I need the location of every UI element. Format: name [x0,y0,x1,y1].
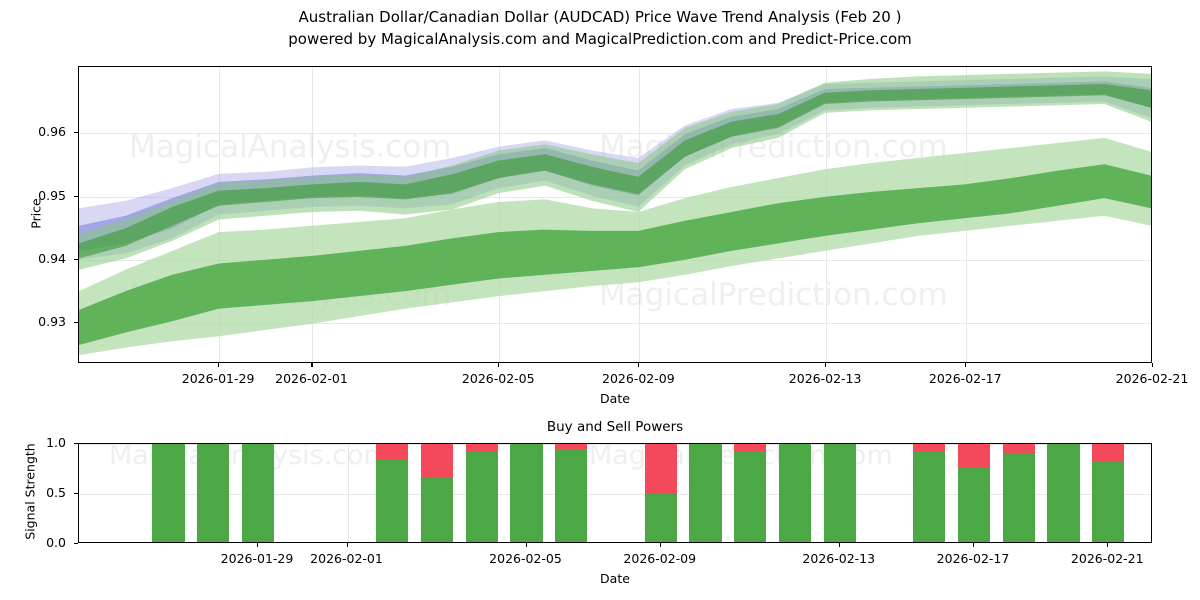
figure-title: Australian Dollar/Canadian Dollar (AUDCA… [0,6,1200,50]
signal-xtick-2026-02-05: 2026-02-05 [466,551,586,566]
sell-power-bar [376,444,408,459]
price-xtick-mark-1 [311,363,312,367]
price-xtick-mark-5 [965,363,966,367]
buy-power-bar [958,467,990,543]
signal-gridline-v-1 [348,444,349,542]
signal-y-axis-title: Signal Strength [23,427,38,557]
price-xtick-mark-4 [825,363,826,367]
sell-power-bar [734,444,766,452]
buy-power-bar [913,451,945,543]
signal-xtick-2026-02-21: 2026-02-21 [1047,551,1167,566]
sell-power-bar [913,444,945,451]
price-ytick-0.96: 0.96 [24,124,66,139]
buy-power-bar [1092,461,1124,543]
price-xtick-mark-3 [638,363,639,367]
signal-xtick-mark-3 [660,543,661,547]
buy-power-bar [555,449,587,543]
buy-power-bar [152,444,184,543]
buy-power-bar [779,444,811,543]
signal-xtick-mark-2 [526,543,527,547]
price-xtick-2026-02-09: 2026-02-09 [578,371,698,386]
title-line-2: powered by MagicalAnalysis.com and Magic… [0,28,1200,50]
buy-power-bar [421,478,453,543]
price-ytick-0.93: 0.93 [24,314,66,329]
sell-power-bar [421,444,453,478]
price-xtick-2026-02-01: 2026-02-01 [251,371,371,386]
signal-xtick-2026-02-17: 2026-02-17 [913,551,1033,566]
buy-power-bar [510,444,542,543]
price-xtick-2026-02-13: 2026-02-13 [765,371,885,386]
buy-power-bar [734,452,766,543]
signal-xtick-2026-02-09: 2026-02-09 [600,551,720,566]
price-wave-bands [79,67,1151,362]
price-xtick-2026-02-05: 2026-02-05 [438,371,558,386]
signal-ytick-mark-1 [74,493,78,494]
price-ytick-mark-3 [74,132,78,133]
sell-power-bar [1003,444,1035,454]
price-xtick-mark-6 [1152,363,1153,367]
buy-power-bar [689,444,721,543]
price-xtick-2026-02-17: 2026-02-17 [905,371,1025,386]
signal-xtick-mark-6 [1107,543,1108,547]
price-chart-axes: MagicalAnalysis.comMagicalPrediction.com… [78,66,1152,363]
price-y-axis-title: Price [29,171,44,255]
signal-xtick-mark-5 [973,543,974,547]
signal-chart-title: Buy and Sell Powers [415,419,815,435]
buy-power-bar [1003,454,1035,543]
price-xtick-mark-2 [498,363,499,367]
price-xtick-mark-0 [218,363,219,367]
price-x-axis-title: Date [575,391,655,406]
sell-power-bar [958,444,990,467]
buy-power-bar [242,444,274,543]
signal-x-axis-title: Date [575,571,655,586]
signal-xtick-mark-4 [839,543,840,547]
sell-power-bar [1092,444,1124,461]
price-xtick-2026-02-21: 2026-02-21 [1092,371,1200,386]
buy-power-bar [197,444,229,543]
buy-power-bar [376,459,408,543]
signal-xtick-mark-1 [347,543,348,547]
sell-power-bar [645,444,677,494]
sell-power-bar [555,444,587,449]
price-ytick-mark-0 [74,322,78,323]
signal-xtick-mark-0 [257,543,258,547]
buy-power-bar [645,494,677,543]
signal-gridline-h-1 [79,494,1151,495]
signal-chart-axes: MagicalAnalysis.comMagicalPrediction.com [78,443,1152,543]
price-ytick-mark-1 [74,259,78,260]
sell-power-bar [466,444,498,452]
signal-xtick-2026-02-13: 2026-02-13 [779,551,899,566]
title-line-1: Australian Dollar/Canadian Dollar (AUDCA… [0,6,1200,28]
signal-ytick-mark-2 [74,443,78,444]
signal-ytick-mark-0 [74,543,78,544]
buy-power-bar [824,444,856,543]
price-ytick-mark-2 [74,196,78,197]
signal-gridline-h-2 [79,444,1151,445]
figure-root: Australian Dollar/Canadian Dollar (AUDCA… [0,0,1200,600]
signal-xtick-2026-02-01: 2026-02-01 [287,551,407,566]
buy-power-bar [1047,444,1079,543]
buy-power-bar [466,452,498,543]
